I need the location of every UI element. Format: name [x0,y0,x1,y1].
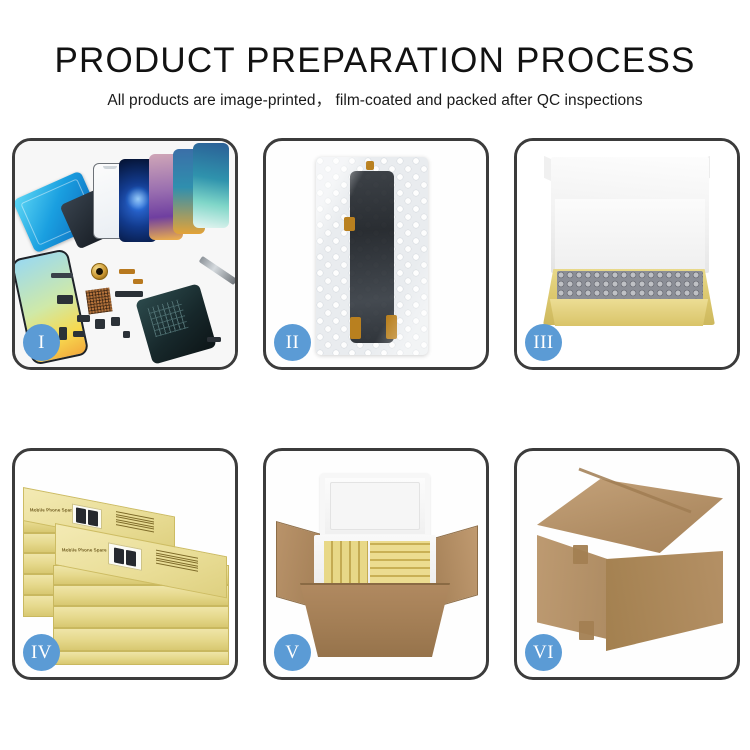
label-chip-graphic [126,549,136,566]
carton-front-face [300,583,450,657]
process-steps-grid: I II [12,138,742,680]
small-part-clip [73,331,85,337]
step-badge-2: II [274,324,311,361]
step-badge-6: VI [525,634,562,671]
small-part-sim-tray [59,327,67,340]
page-title: PRODUCT PREPARATION PROCESS [0,40,750,82]
small-part-flex-cable [133,279,143,284]
small-part-connector [57,295,73,304]
packing-tape-tab-lower [579,621,594,640]
packing-tape-tab-upper [573,545,588,564]
screwdriver-icon [199,256,235,285]
open-tray-box-photo: III [517,141,737,367]
yellow-tray-front-face [543,299,715,326]
small-part-tweezers [207,337,221,342]
camera-lens-ring-icon [91,263,108,280]
label-chip-graphic [76,507,86,524]
page-subtitle: All products are image-printed， film-coa… [0,88,750,110]
carton-with-foam-photo: V [266,451,486,677]
process-panel-step-1: I [12,138,238,370]
process-panel-step-6: VI [514,448,740,680]
step-badge-4: IV [23,634,60,671]
carton-right-face [606,551,723,651]
flex-cable-tab-icon [350,317,361,339]
box-label-spec-lines [156,550,198,572]
white-foam-sheet-icon [555,199,705,271]
phone-parts-photo: I [15,141,235,367]
small-part-flex-cable [119,269,135,274]
process-panel-step-3: III [514,138,740,370]
step-badge-1: I [23,324,60,361]
flex-cable-tab-icon [386,315,397,339]
small-part-vibrator [95,319,105,329]
sealed-carton-photo: VI [517,451,737,677]
stacked-box-edge [53,606,229,628]
bubble-wrap-bag-icon [316,157,428,355]
stacked-box-edge [53,628,229,651]
box-stack: Mobile Phone Spare Parts Mobile Phone Sp… [23,477,233,663]
flex-cable-tab-icon [344,217,355,231]
process-panel-step-5: V [263,448,489,680]
step-badge-3: III [525,324,562,361]
stacked-boxes-photo: Mobile Phone Spare Parts Mobile Phone Sp… [15,451,235,677]
step-badge-5: V [274,634,311,671]
box-label-window [72,504,102,530]
flex-cable-tab-icon [366,161,374,170]
bubble-wrapped-part-photo: II [266,141,486,367]
carton-left-face [537,535,607,639]
small-part-antenna [115,291,143,297]
header: PRODUCT PREPARATION PROCESS All products… [0,0,750,110]
small-part-button [111,317,120,326]
small-part-screw [123,331,130,338]
process-panel-step-2: II [263,138,489,370]
yellow-boxes-vertical-group [324,541,368,583]
product-preparation-infographic: PRODUCT PREPARATION PROCESS All products… [0,0,750,750]
label-chip-graphic [88,509,98,526]
grey-bubble-wrap-contents-icon [557,271,703,303]
small-part-bracket [51,273,73,278]
phone-back-housing-icon [135,283,217,365]
small-part-speaker [77,315,90,322]
copper-shield-mesh-icon [85,287,112,314]
yellow-boxes-horizontal-group [370,541,430,583]
box-label-window [108,542,142,571]
box-label-spec-lines [116,511,154,532]
foam-box-lid-icon [320,473,430,539]
stacked-box-edge [53,651,229,665]
phone-gradient-display-icon [193,143,229,228]
label-chip-graphic [114,547,124,564]
process-panel-step-4: Mobile Phone Spare Parts Mobile Phone Sp… [12,448,238,680]
